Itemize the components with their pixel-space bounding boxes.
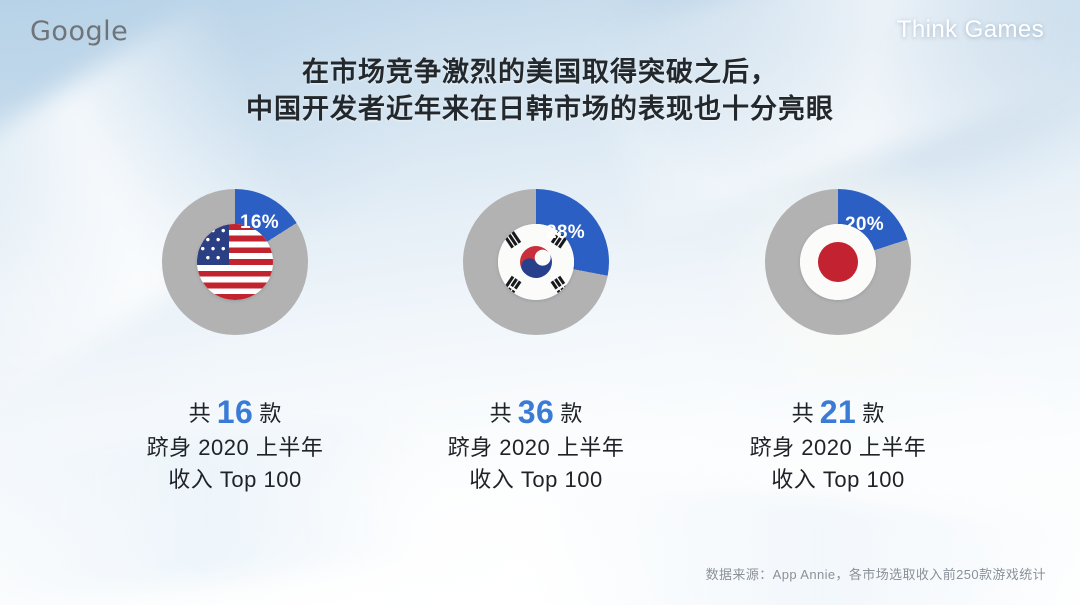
caption-prefix: 共 [792, 401, 814, 426]
google-logo: Google [30, 16, 128, 47]
slide-title: 在市场竞争激烈的美国取得突破之后， 中国开发者近年来在日韩市场的表现也十分亮眼 [0, 54, 1080, 129]
caption-suffix: 款 [259, 401, 281, 426]
caption-number: 36 [518, 394, 555, 430]
percent-label-jp: 20% [845, 214, 884, 236]
slide-title-line2: 中国开发者近年来在日韩市场的表现也十分亮眼 [0, 91, 1080, 128]
donut-chart-row: 16% [0, 176, 1080, 356]
percent-label-kr: 28% [546, 222, 585, 244]
caption-suffix: 款 [862, 401, 884, 426]
caption-kr: 共 36 款 跻身 2020 上半年 收入 Top 100 [386, 392, 686, 496]
slide-canvas: Google Think Games 在市场竞争激烈的美国取得突破之后， 中国开… [0, 0, 1080, 605]
caption-us-line1: 共 16 款 [85, 392, 385, 432]
caption-prefix: 共 [189, 401, 211, 426]
caption-number: 16 [217, 394, 254, 430]
caption-kr-line3: 收入 Top 100 [386, 464, 686, 496]
caption-us: 共 16 款 跻身 2020 上半年 收入 Top 100 [85, 392, 385, 496]
caption-jp-line2: 跻身 2020 上半年 [688, 432, 988, 464]
think-games-brand: Think Games [897, 16, 1044, 44]
slide-title-line1: 在市场竞争激烈的美国取得突破之后， [0, 54, 1080, 91]
us-flag-icon [197, 224, 273, 300]
caption-suffix: 款 [560, 401, 582, 426]
caption-prefix: 共 [490, 401, 512, 426]
caption-jp-line1: 共 21 款 [688, 392, 988, 432]
caption-number: 21 [820, 394, 857, 430]
caption-jp-line3: 收入 Top 100 [688, 464, 988, 496]
caption-kr-line2: 跻身 2020 上半年 [386, 432, 686, 464]
caption-us-line2: 跻身 2020 上半年 [85, 432, 385, 464]
source-note: 数据来源：App Annie，各市场选取收入前250款游戏统计 [706, 564, 1046, 583]
donut-chart-jp: 20% [752, 176, 924, 348]
donut-chart-kr: 28% [450, 176, 622, 348]
percent-label-us: 16% [240, 212, 279, 234]
donut-chart-us: 16% [149, 176, 321, 348]
caption-kr-line1: 共 36 款 [386, 392, 686, 432]
caption-jp: 共 21 款 跻身 2020 上半年 收入 Top 100 [688, 392, 988, 496]
caption-us-line3: 收入 Top 100 [85, 464, 385, 496]
